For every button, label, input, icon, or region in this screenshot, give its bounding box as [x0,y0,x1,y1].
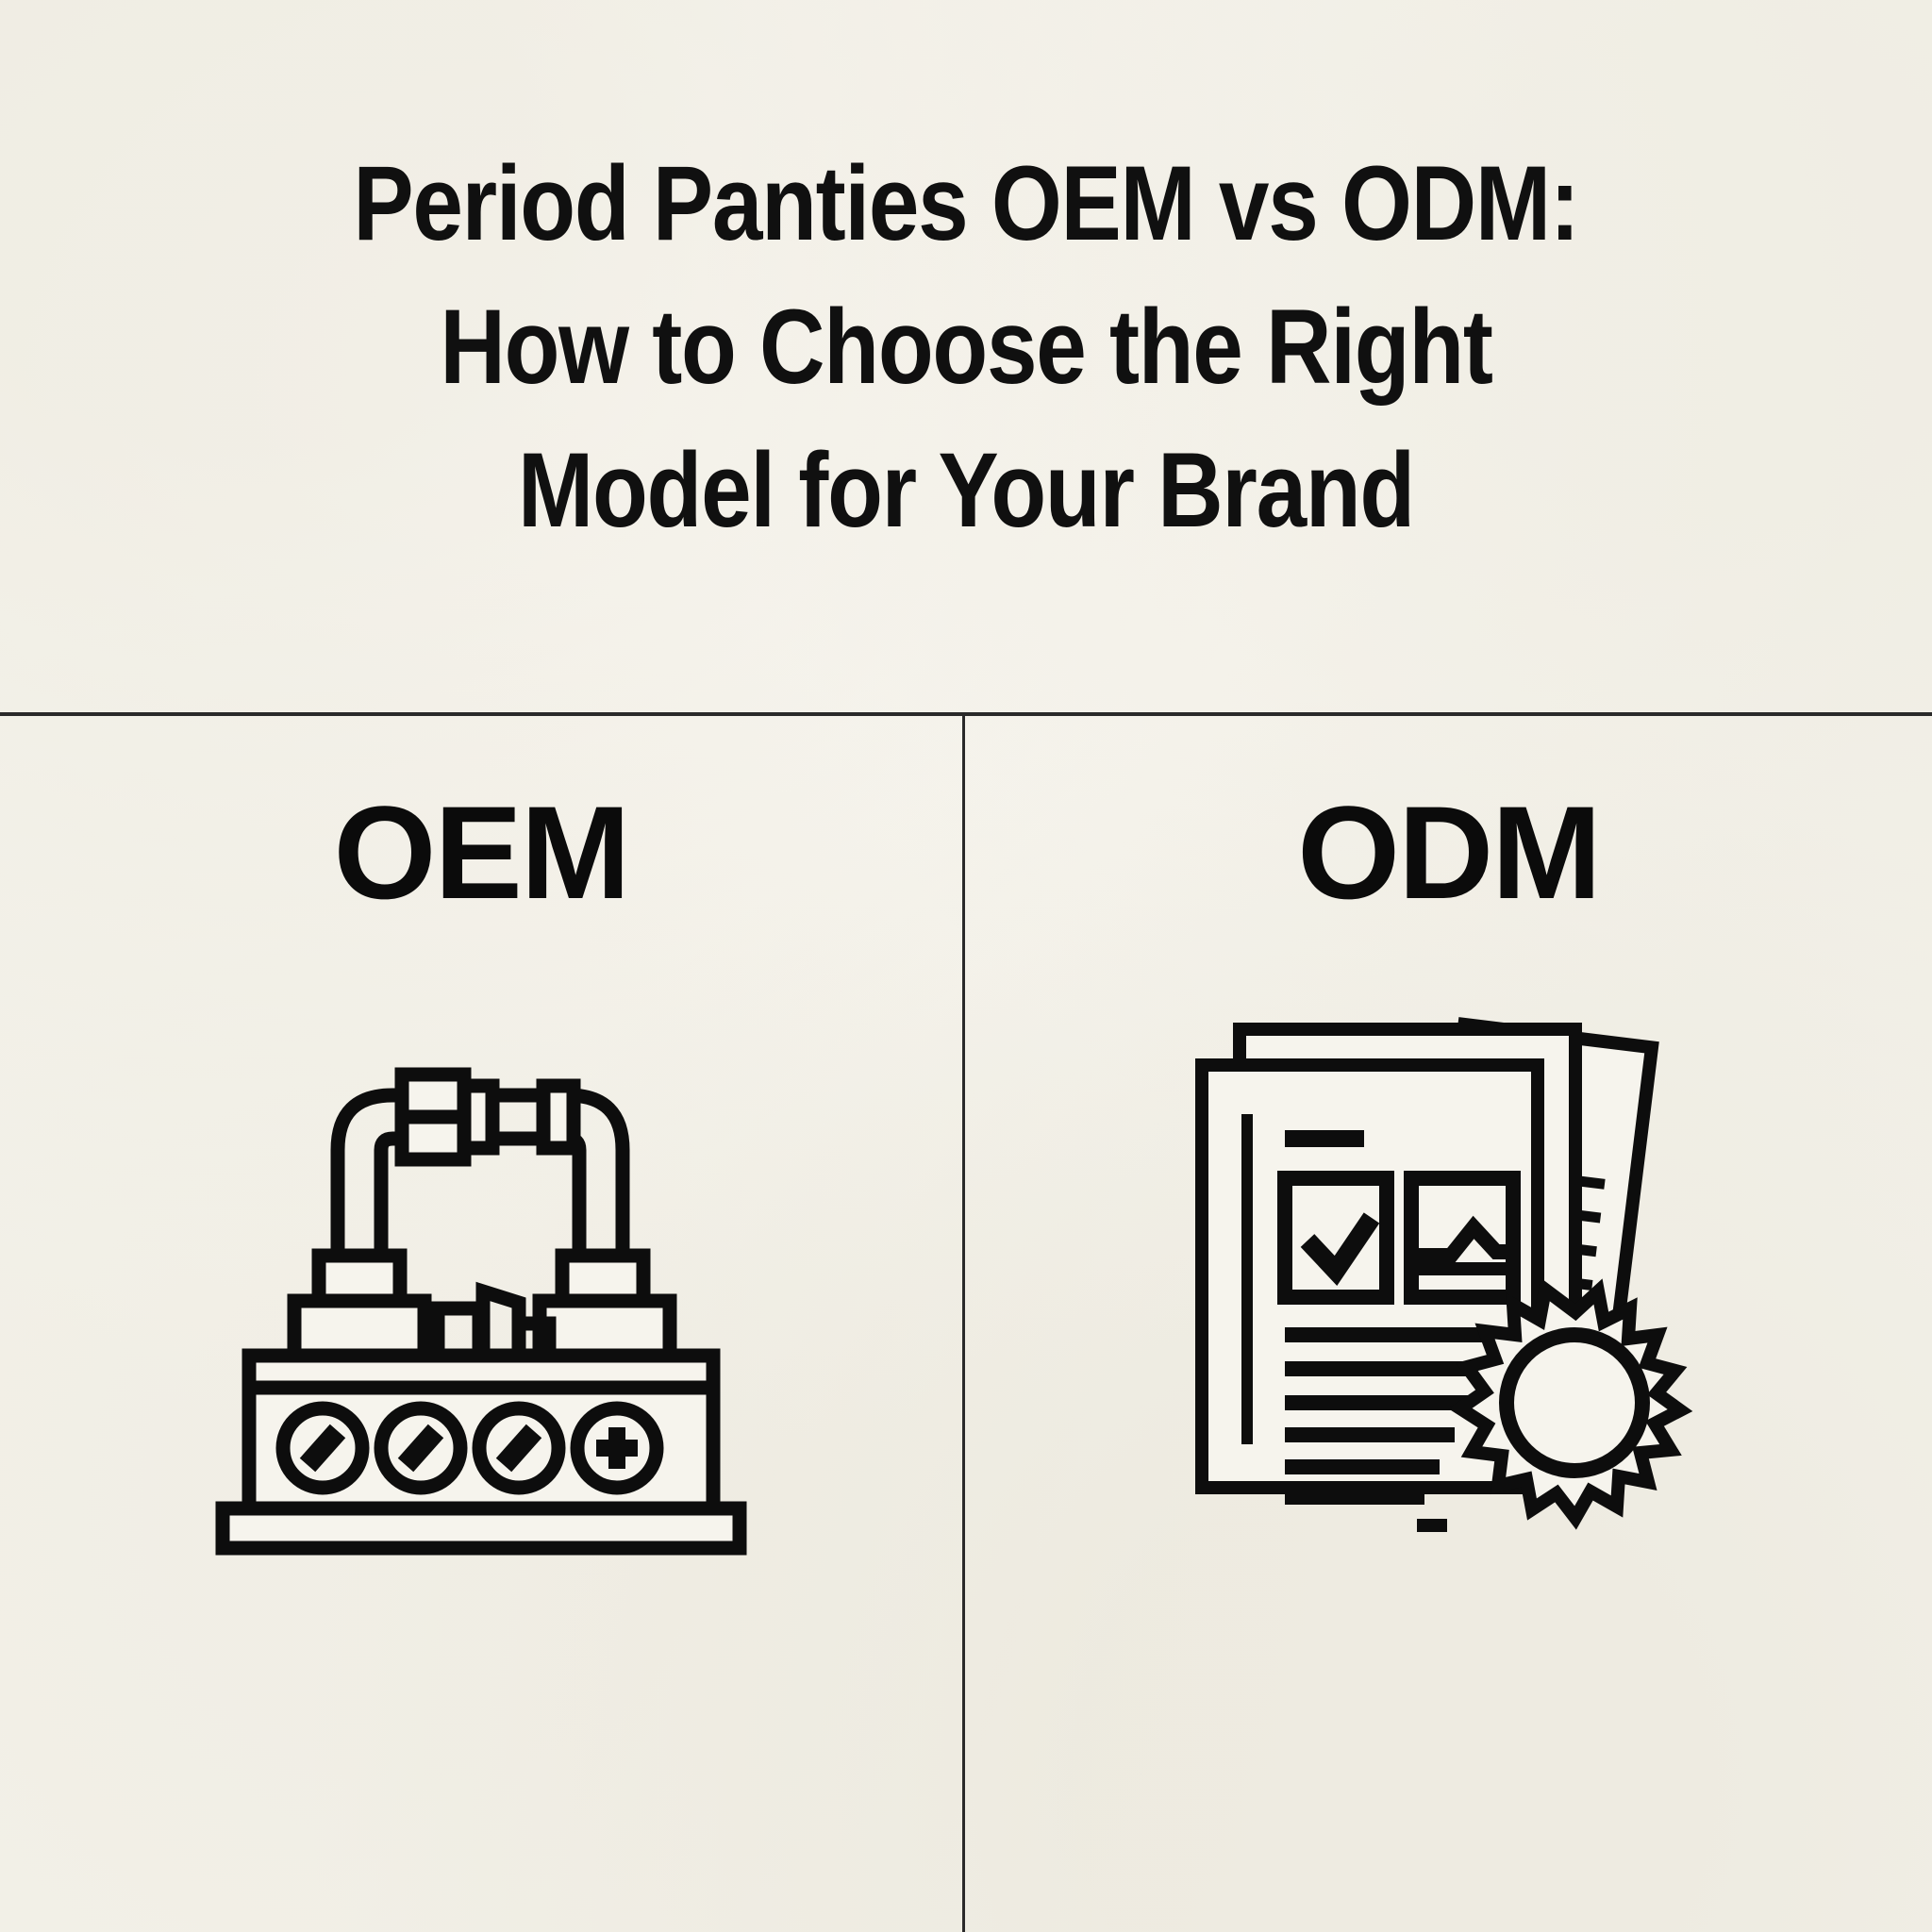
page-title: Period Panties OEM vs ODM: How to Choose… [0,132,1932,562]
power-dial-plus [577,1408,657,1488]
title-line-2: How to Choose the Right [135,275,1796,419]
title-line-3: Model for Your Brand [135,419,1796,562]
title-line-1: Period Panties OEM vs ODM: [135,132,1796,275]
design-documents-icon [1157,1008,1741,1556]
odm-panel: ODM [965,716,1932,1932]
oem-panel: OEM [0,716,962,1932]
manufacturing-machine-icon [179,1008,783,1556]
oem-label: OEM [0,782,962,924]
infographic-canvas: Period Panties OEM vs ODM: How to Choose… [0,0,1932,1932]
odm-label: ODM [965,782,1932,924]
